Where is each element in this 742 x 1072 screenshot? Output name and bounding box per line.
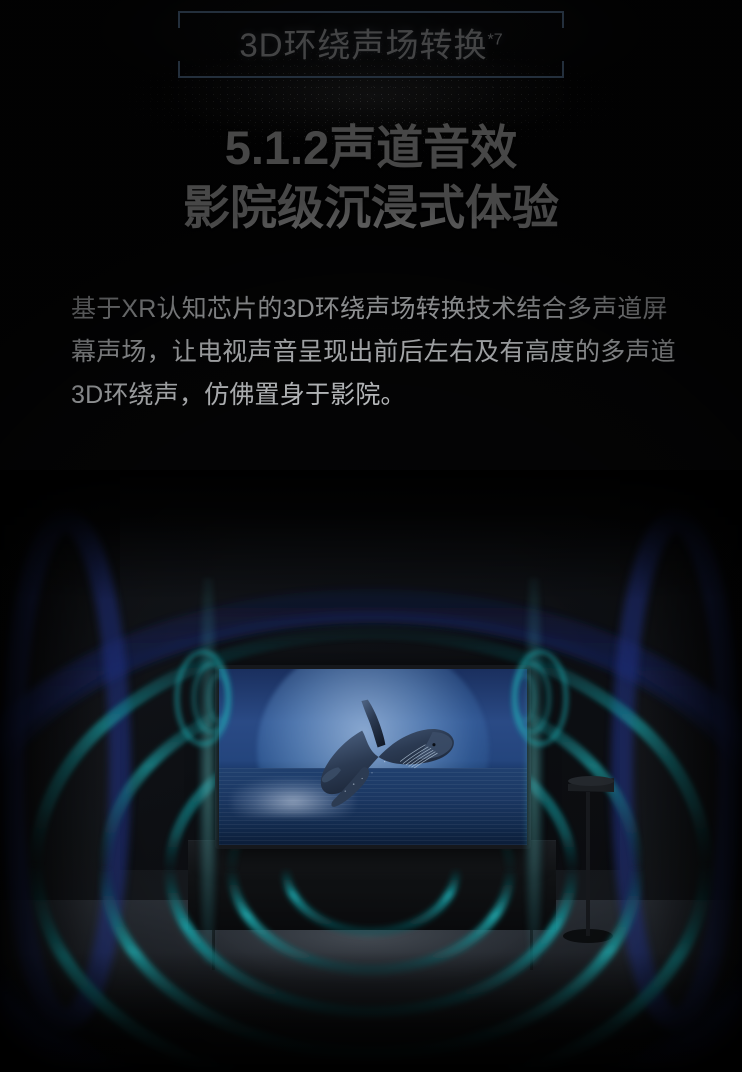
badge-label: 3D环绕声场转换 — [239, 26, 487, 63]
feature-badge: 3D环绕声场转换*7 — [174, 11, 568, 78]
headline: 5.1.2声道音效 影院级沉浸式体验 — [0, 118, 742, 238]
scene-bottom-fade — [0, 952, 742, 1072]
description-paragraph: 基于XR认知芯片的3D环绕声场转换技术结合多声道屏幕声场，让电视声音呈现出前后左… — [71, 288, 677, 417]
sony-3d-surround-promo-page: 3D环绕声场转换*7 5.1.2声道音效 影院级沉浸式体验 基于XR认知芯片的3… — [0, 0, 742, 1072]
badge-superscript: *7 — [488, 31, 503, 48]
scene-top-fade — [0, 470, 742, 600]
badge-text-row: 3D环绕声场转换*7 — [174, 28, 568, 61]
top-text-section: 3D环绕声场转换*7 5.1.2声道音效 影院级沉浸式体验 基于XR认知芯片的3… — [0, 0, 742, 470]
headline-line-2: 影院级沉浸式体验 — [0, 178, 742, 238]
headline-line-1: 5.1.2声道音效 — [225, 121, 518, 174]
living-room-scene — [0, 470, 742, 1072]
